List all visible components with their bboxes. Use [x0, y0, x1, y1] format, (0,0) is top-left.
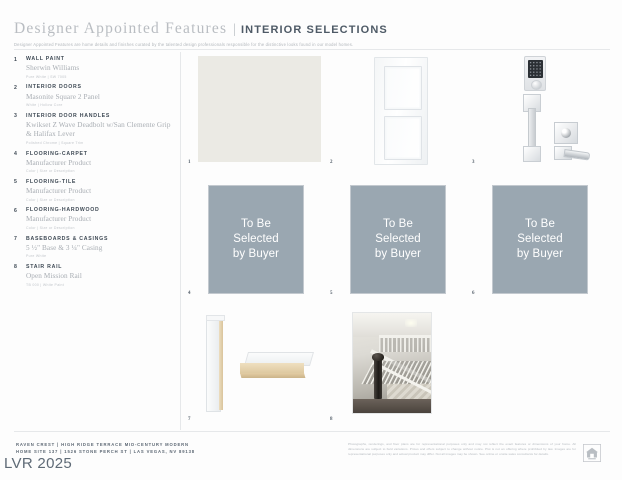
tbd-line-1: To Be	[233, 217, 279, 232]
list-item: 4 FLOORING-CARPET Manufacturer Product C…	[14, 151, 174, 174]
rosette-knob	[561, 128, 571, 138]
footer-community-info: RAVEN CREST | HIGH RIDGE TERRACE MID-CEN…	[16, 441, 195, 456]
list-item: 8 STAIR RAIL Open Mission Rail TB 000 | …	[14, 264, 174, 287]
door-panel-bottom	[384, 116, 422, 160]
list-item: 2 INTERIOR DOORS Masonite Square 2 Panel…	[14, 84, 174, 107]
title-separator: |	[233, 22, 236, 38]
tbd-line-2: Selected	[375, 232, 421, 247]
spec-number: 3	[14, 113, 26, 145]
to-be-selected-tile-carpet: To Be Selected by Buyer	[208, 185, 304, 294]
spec-detail: Polished Chrome | Square Trim	[26, 141, 174, 145]
keypad-buttons	[529, 61, 542, 77]
spec-product: Masonite Square 2 Panel	[26, 93, 174, 103]
tile-number-1: 1	[188, 160, 191, 165]
photo-floor	[353, 399, 431, 413]
spec-number: 6	[14, 207, 26, 230]
list-item: 7 BASEBOARDS & CASINGS 5 ½" Base & 3 ¼" …	[14, 236, 174, 259]
spec-number: 5	[14, 179, 26, 202]
page-header: Designer Appointed Features | INTERIOR S…	[14, 20, 610, 48]
spec-detail: TB 000 | White Paint	[26, 283, 174, 287]
interior-door-image	[374, 57, 428, 165]
legal-disclaimer: Photographs, renderings, and floor plans…	[348, 442, 576, 456]
door-panel-top	[384, 66, 422, 110]
spec-number: 8	[14, 264, 26, 287]
tile-number-2: 2	[330, 160, 333, 165]
community-name: RAVEN CREST | HIGH RIDGE TERRACE MID-CEN…	[16, 441, 195, 448]
spec-category: FLOORING-CARPET	[26, 151, 174, 158]
tbd-line-3: by Buyer	[375, 247, 421, 262]
photo-upper-balusters	[379, 338, 431, 352]
equal-housing-opportunity-icon	[583, 444, 601, 462]
photo-newel-cap	[372, 353, 384, 361]
spec-product: Sherwin Williams	[26, 64, 174, 74]
spec-product: Kwikset Z Wave Deadbolt w/San Clemente G…	[26, 121, 174, 140]
tbd-line-1: To Be	[517, 217, 563, 232]
spec-product: Manufacturer Product	[26, 215, 174, 225]
spec-category: BASEBOARDS & CASINGS	[26, 236, 174, 243]
stair-rail-photo	[352, 312, 432, 414]
list-item: 1 WALL PAINT Sherwin Williams Pure White…	[14, 56, 174, 79]
brochure-page: Designer Appointed Features | INTERIOR S…	[0, 0, 622, 480]
handleset-grip-bar	[528, 108, 536, 150]
spec-product: 5 ½" Base & 3 ¼" Casing	[26, 244, 174, 254]
header-divider	[14, 49, 610, 50]
baseboard-side	[219, 318, 223, 410]
spec-detail: Pure White	[26, 254, 174, 258]
spec-product: Open Mission Rail	[26, 272, 174, 282]
tbd-line-2: Selected	[517, 232, 563, 247]
door-slab	[374, 57, 428, 165]
watermark-label: LVR 2025	[4, 455, 72, 472]
keypad-thumbturn	[531, 80, 542, 90]
tbd-line-1: To Be	[375, 217, 421, 232]
door-hardware-image	[508, 56, 588, 164]
tile-number-4: 4	[188, 291, 191, 296]
footer-divider	[14, 431, 610, 432]
page-title-sub: INTERIOR SELECTIONS	[241, 24, 388, 36]
tbd-label: To Be Selected by Buyer	[233, 217, 279, 263]
spec-detail: Pure White | SW 7005	[26, 75, 174, 79]
tbd-label: To Be Selected by Buyer	[375, 217, 421, 263]
tbd-label: To Be Selected by Buyer	[517, 217, 563, 263]
square-rosette-knob-icon	[554, 122, 578, 144]
handleset-bottom-plate	[523, 146, 541, 162]
spec-number: 2	[14, 84, 26, 107]
photo-light	[405, 319, 417, 327]
casing-bevel	[240, 373, 305, 378]
spec-product: Manufacturer Product	[26, 187, 174, 197]
photo-ceiling	[353, 313, 431, 337]
casing-profile-image	[240, 352, 310, 380]
list-item: 3 INTERIOR DOOR HANDLES Kwikset Z Wave D…	[14, 113, 174, 145]
tbd-line-3: by Buyer	[233, 247, 279, 262]
page-title-main: Designer Appointed Features	[14, 20, 227, 38]
spec-detail: Color | Size or Description	[26, 198, 174, 202]
baseboard-top	[206, 315, 225, 321]
specification-list: 1 WALL PAINT Sherwin Williams Pure White…	[14, 56, 174, 292]
tile-number-6: 6	[472, 291, 475, 296]
spec-category: FLOORING-HARDWOOD	[26, 207, 174, 214]
tbd-line-3: by Buyer	[517, 247, 563, 262]
paint-swatch-image	[198, 56, 321, 162]
spec-product: Manufacturer Product	[26, 159, 174, 169]
spec-detail: Color | Size or Description	[26, 169, 174, 173]
tile-number-3: 3	[472, 160, 475, 165]
spec-detail: Color | Size or Description	[26, 226, 174, 230]
tbd-line-2: Selected	[233, 232, 279, 247]
list-item: 6 FLOORING-HARDWOOD Manufacturer Product…	[14, 207, 174, 230]
tile-number-5: 5	[330, 291, 333, 296]
tile-number-8: 8	[330, 417, 333, 422]
spec-category: INTERIOR DOORS	[26, 84, 174, 91]
tile-number-7: 7	[188, 417, 191, 422]
spec-category: FLOORING-TILE	[26, 179, 174, 186]
baseboard-profile-image	[206, 315, 223, 410]
spec-number: 4	[14, 151, 26, 174]
column-divider	[180, 52, 181, 430]
spec-detail: White | Hollow Core	[26, 103, 174, 107]
to-be-selected-tile-hardwood: To Be Selected by Buyer	[492, 185, 588, 294]
spec-number: 7	[14, 236, 26, 259]
spec-category: WALL PAINT	[26, 56, 174, 63]
grip-handleset-icon	[523, 94, 539, 160]
to-be-selected-tile-tile: To Be Selected by Buyer	[350, 185, 446, 294]
photo-newel-post	[374, 357, 382, 399]
keypad-deadbolt-icon	[524, 56, 546, 91]
spec-category: STAIR RAIL	[26, 264, 174, 271]
page-title: Designer Appointed Features | INTERIOR S…	[14, 20, 610, 38]
list-item: 5 FLOORING-TILE Manufacturer Product Col…	[14, 179, 174, 202]
spec-number: 1	[14, 56, 26, 79]
header-description: Designer Appointed Features are home det…	[14, 42, 610, 48]
spec-category: INTERIOR DOOR HANDLES	[26, 113, 174, 120]
